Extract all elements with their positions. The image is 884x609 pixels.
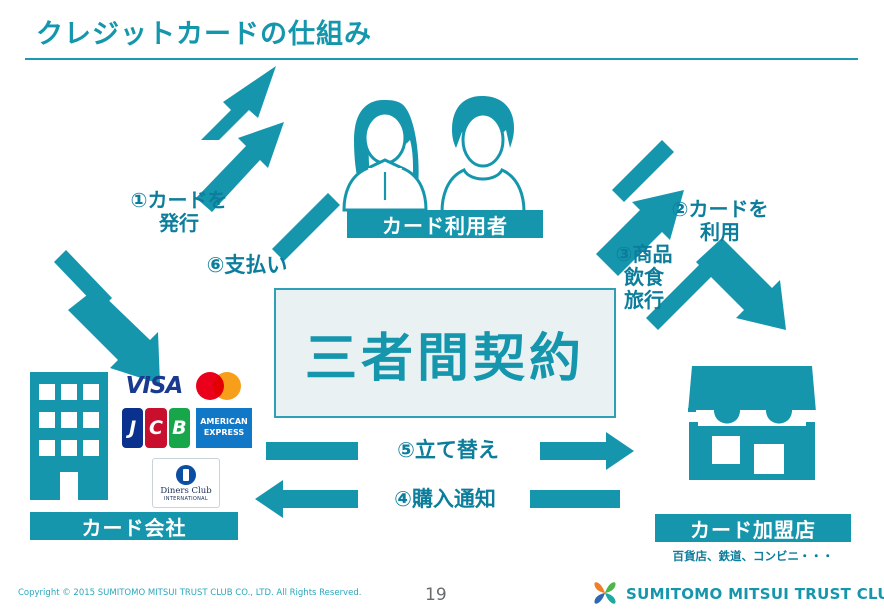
title-divider: [25, 58, 858, 60]
diners-line-2: INTERNATIONAL: [164, 496, 208, 502]
amex-line-1: AMERICAN: [200, 417, 248, 428]
diners-club-mark: [176, 465, 196, 485]
storefront-icon: [688, 366, 816, 480]
card-company-caption: カード会社: [30, 512, 238, 540]
flow-label-4: ④購入通知: [375, 487, 515, 511]
tripartite-contract-box: 三者間契約: [274, 288, 616, 418]
jcb-logo: J C B: [122, 408, 190, 448]
mastercard-orange-circle: [213, 372, 241, 400]
diners-club-logo: Diners Club INTERNATIONAL: [152, 458, 220, 508]
merchant-subtitle: 百貨店、鉄道、コンビニ・・・: [653, 548, 853, 564]
copyright-text: Copyright © 2015 SUMITOMO MITSUI TRUST C…: [18, 588, 361, 598]
mastercard-logo: [196, 370, 246, 402]
card-user-caption: カード利用者: [347, 210, 543, 238]
flow-label-3: ③商品 飲食 旅行: [604, 243, 684, 312]
page-title: クレジットカードの仕組み: [36, 12, 372, 51]
flow-label-2: ②カードを 利用: [640, 198, 800, 244]
merchant-caption: カード加盟店: [655, 514, 851, 542]
brand-name: SUMITOMO MITSUI TRUST CLUB: [626, 585, 884, 603]
amex-line-2: EXPRESS: [204, 428, 244, 439]
card-user-illustration: [344, 96, 524, 212]
flow-arrow-6: [54, 250, 160, 384]
tripartite-contract-label: 三者間契約: [305, 316, 585, 391]
sumitomo-mitsui-trust-club-logo-icon: [592, 580, 618, 606]
jcb-letter-j: J: [122, 408, 143, 448]
office-building-icon: [30, 372, 108, 500]
jcb-letter-c: C: [145, 408, 166, 448]
visa-logo: VISA: [118, 373, 190, 399]
jcb-letter-b: B: [169, 408, 190, 448]
page-number: 19: [425, 585, 447, 605]
flow-arrow-1-segment: [268, 188, 340, 261]
amex-logo: AMERICAN EXPRESS: [196, 408, 252, 448]
diners-line-1: Diners Club: [160, 486, 211, 496]
flow-label-1: ①カードを 発行: [104, 189, 254, 235]
flow-arrow-1: [201, 66, 276, 140]
slide-canvas: クレジットカードの仕組み: [0, 0, 884, 609]
flow-label-6: ⑥支払い: [186, 253, 308, 277]
flow-label-5: ⑤立て替え: [378, 438, 518, 462]
